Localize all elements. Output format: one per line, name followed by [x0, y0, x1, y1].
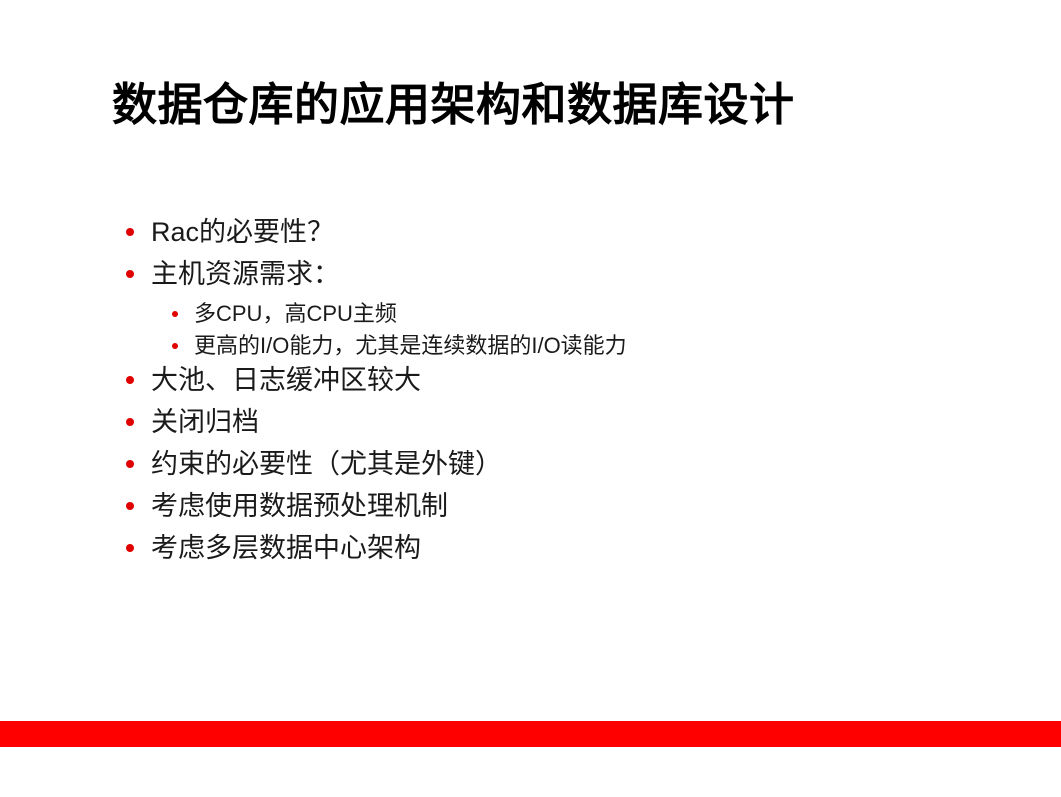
- bullet-dot-icon: [126, 215, 151, 249]
- list-item-label: 约束的必要性（尤其是外键）: [151, 447, 956, 481]
- bullet-dot-icon: [172, 299, 194, 328]
- sub-list-item-label: 更高的I/O能力，尤其是连续数据的I/O读能力: [194, 331, 956, 360]
- sub-list-item: 更高的I/O能力，尤其是连续数据的I/O读能力: [126, 331, 956, 360]
- list-item: 主机资源需求：: [126, 257, 956, 291]
- bullet-dot-icon: [126, 405, 151, 439]
- bullet-list: Rac的必要性？ 主机资源需求： 多CPU，高CPU主频 更高的I/O能力，尤其…: [126, 215, 956, 573]
- bullet-dot-icon: [126, 447, 151, 481]
- footer-accent-bar: [0, 721, 1061, 747]
- bullet-dot-icon: [126, 489, 151, 523]
- list-item-label: Rac的必要性？: [151, 215, 956, 249]
- bullet-dot-icon: [126, 363, 151, 397]
- list-item: Rac的必要性？: [126, 215, 956, 249]
- bullet-dot-icon: [172, 331, 194, 360]
- list-item: 考虑使用数据预处理机制: [126, 489, 956, 523]
- presentation-slide: 数据仓库的应用架构和数据库设计 Rac的必要性？ 主机资源需求： 多CPU，高C…: [0, 0, 1061, 797]
- list-item: 考虑多层数据中心架构: [126, 531, 956, 565]
- list-item-label: 考虑多层数据中心架构: [151, 531, 956, 565]
- list-item: 约束的必要性（尤其是外键）: [126, 447, 956, 481]
- sub-list-item: 多CPU，高CPU主频: [126, 299, 956, 328]
- bullet-dot-icon: [126, 257, 151, 291]
- sub-list-item-label: 多CPU，高CPU主频: [194, 299, 956, 328]
- bullet-dot-icon: [126, 531, 151, 565]
- list-item-label: 关闭归档: [151, 405, 956, 439]
- list-item-label: 考虑使用数据预处理机制: [151, 489, 956, 523]
- list-item-label: 大池、日志缓冲区较大: [151, 363, 956, 397]
- list-item: 关闭归档: [126, 405, 956, 439]
- page-title: 数据仓库的应用架构和数据库设计: [112, 79, 795, 131]
- list-item-label: 主机资源需求：: [151, 257, 956, 291]
- list-item: 大池、日志缓冲区较大: [126, 363, 956, 397]
